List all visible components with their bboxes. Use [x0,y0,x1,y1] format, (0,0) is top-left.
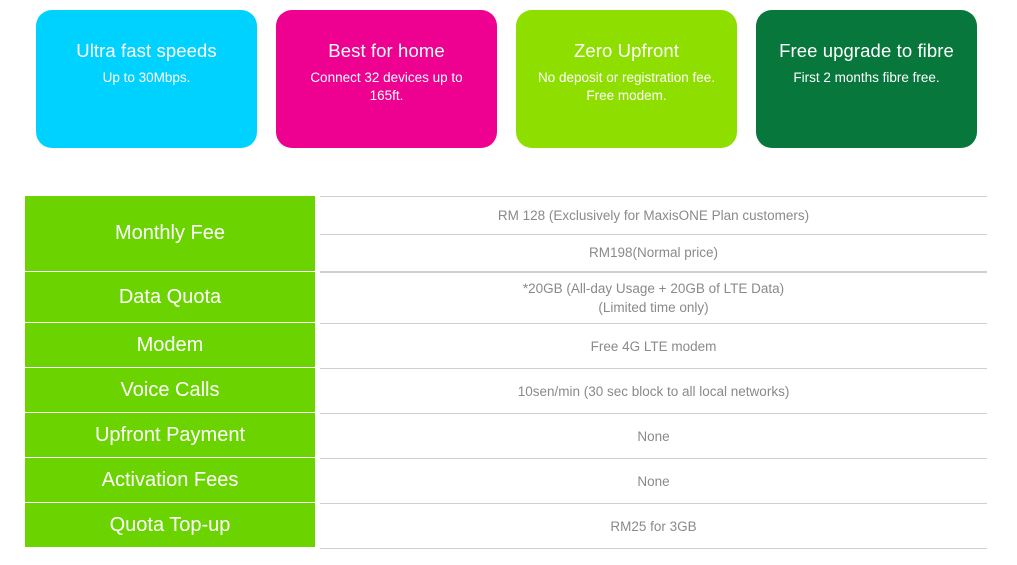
card-free-upgrade-to-fibre[interactable]: Free upgrade to fibreFirst 2 months fibr… [756,10,977,148]
table-cell-value: Free 4G LTE modem [320,324,987,369]
card-title: Best for home [328,40,444,62]
table-cell-value: 10sen/min (30 sec block to all local net… [320,369,987,414]
table-row-label: Voice Calls [25,368,315,413]
table-cell-value: RM198(Normal price) [320,235,987,273]
table-row-label: Quota Top-up [25,503,315,548]
table-row: Quota Top-upRM25 for 3GB [25,503,987,548]
table-cell-value: None [320,459,987,504]
table-cell-value: *20GB (All-day Usage + 20GB of LTE Data)… [320,273,987,324]
plan-comparison-table: Monthly FeeRM 128 (Exclusively for Maxis… [25,196,987,548]
table-row-label: Upfront Payment [25,413,315,458]
card-subtitle: No deposit or registration fee. Free mod… [532,69,721,105]
table-row-values: *20GB (All-day Usage + 20GB of LTE Data)… [320,272,987,323]
card-title: Free upgrade to fibre [779,40,954,62]
table-cell-value: None [320,414,987,459]
table-cell-value: RM 128 (Exclusively for MaxisONE Plan cu… [320,197,987,235]
table-row: Activation FeesNone [25,458,987,503]
card-subtitle: Connect 32 devices up to 165ft. [292,69,481,105]
card-subtitle: Up to 30Mbps. [103,69,191,87]
table-row: Upfront PaymentNone [25,413,987,458]
card-best-for-home[interactable]: Best for homeConnect 32 devices up to 16… [276,10,497,148]
table-row: ModemFree 4G LTE modem [25,323,987,368]
table-row-label: Modem [25,323,315,368]
table-row-values: 10sen/min (30 sec block to all local net… [320,368,987,414]
card-title: Zero Upfront [574,40,679,62]
table-row: Monthly FeeRM 128 (Exclusively for Maxis… [25,196,987,272]
card-subtitle: First 2 months fibre free. [793,69,939,87]
table-cell-value: RM25 for 3GB [320,504,987,549]
table-row-values: Free 4G LTE modem [320,323,987,369]
table-row-label: Activation Fees [25,458,315,503]
table-row-values: None [320,458,987,504]
table-row-label: Monthly Fee [25,196,315,272]
table-row-values: None [320,413,987,459]
card-ultra-fast-speeds[interactable]: Ultra fast speedsUp to 30Mbps. [36,10,257,148]
table-row-values: RM 128 (Exclusively for MaxisONE Plan cu… [320,196,987,272]
table-row-values: RM25 for 3GB [320,503,987,549]
card-title: Ultra fast speeds [76,40,217,62]
table-row: Data Quota*20GB (All-day Usage + 20GB of… [25,272,987,323]
feature-cards: Ultra fast speedsUp to 30Mbps.Best for h… [0,10,1017,148]
table-row-label: Data Quota [25,272,315,323]
table-row: Voice Calls10sen/min (30 sec block to al… [25,368,987,413]
card-zero-upfront[interactable]: Zero UpfrontNo deposit or registration f… [516,10,737,148]
